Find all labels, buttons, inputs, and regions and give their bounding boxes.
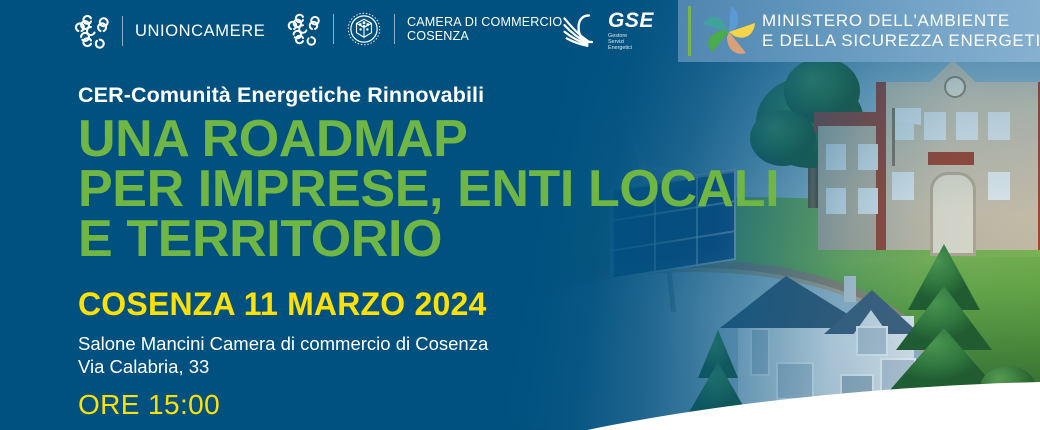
ministero-green-bar — [688, 6, 691, 56]
logo-divider — [333, 14, 334, 44]
ministero-star-icon — [696, 2, 762, 60]
event-eyebrow: CER-Comunità Energetiche Rinnovabili — [78, 82, 838, 108]
event-banner: UNIONCAMERE — [0, 0, 1040, 430]
ministero-line2: E DELLA SICUREZZA ENERGETICA — [762, 31, 1040, 52]
gse-label: GSE — [608, 10, 654, 31]
ministero-line1: MINISTERO DELL'AMBIENTE — [762, 11, 1040, 32]
ministero-label: MINISTERO DELL'AMBIENTE E DELLA SICUREZZ… — [762, 11, 1040, 52]
logo-gse[interactable]: GSE Gestore Servizi Energetici — [562, 10, 654, 52]
logo-camera-commercio[interactable]: CAMERA DI COMMERCIO COSENZA — [285, 11, 562, 47]
logo-unioncamere[interactable]: UNIONCAMERE — [72, 12, 265, 50]
logo-divider — [394, 14, 395, 44]
logo-divider — [122, 16, 123, 46]
logo-ministero-ambiente[interactable]: MINISTERO DELL'AMBIENTE E DELLA SICUREZZ… — [678, 0, 1040, 62]
event-venue: Salone Mancini Camera di commercio di Co… — [78, 332, 838, 378]
event-content: CER-Comunità Energetiche Rinnovabili UNA… — [78, 82, 838, 420]
gse-wordmark: GSE Gestore Servizi Energetici — [608, 10, 654, 52]
gse-sub3: Energetici — [608, 45, 654, 51]
camera-commercio-line2: COSENZA — [407, 29, 562, 44]
unioncamere-swirl-icon — [285, 11, 321, 47]
gse-wave-icon — [562, 11, 604, 51]
headline-line-3: E TERRITORIO — [78, 214, 838, 264]
venue-line-1: Salone Mancini Camera di commercio di Co… — [78, 333, 488, 354]
headline-line-1: UNA ROADMAP — [78, 114, 838, 164]
event-headline: UNA ROADMAP PER IMPRESE, ENTI LOCALI E T… — [78, 114, 838, 264]
unioncamere-swirl-icon — [72, 12, 110, 50]
camera-commercio-line1: CAMERA DI COMMERCIO — [407, 15, 562, 30]
camera-commercio-hex-badge-icon — [346, 11, 382, 47]
headline-line-2: PER IMPRESE, ENTI LOCALI — [78, 164, 838, 214]
event-time: ORE 15:00 — [78, 390, 838, 420]
venue-line-2: Via Calabria, 33 — [78, 356, 209, 377]
event-date: COSENZA 11 MARZO 2024 — [78, 286, 838, 322]
camera-commercio-label: CAMERA DI COMMERCIO COSENZA — [407, 15, 562, 44]
unioncamere-label: UNIONCAMERE — [135, 22, 265, 41]
